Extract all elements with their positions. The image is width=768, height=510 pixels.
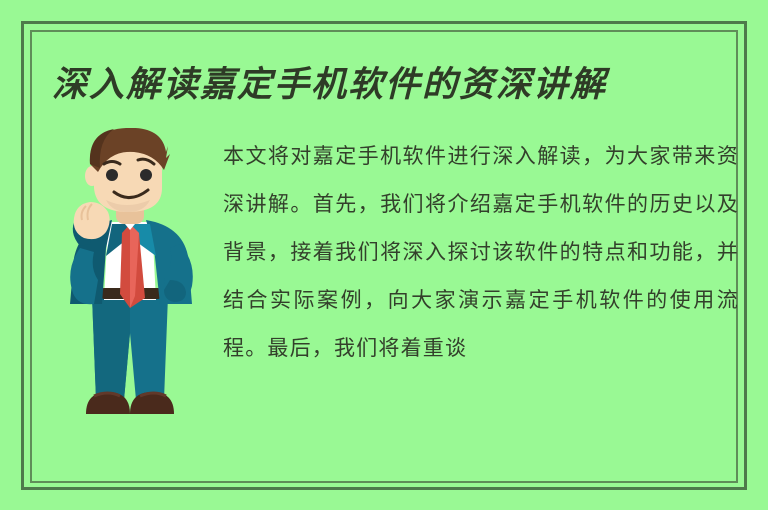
thinking-businessman-illustration [50, 128, 210, 418]
trousers-group [92, 296, 168, 400]
poster-canvas: 深入解读嘉定手机软件的资深讲解 [0, 0, 768, 510]
hand-at-chin [74, 202, 110, 239]
shoes-group [86, 392, 174, 414]
page-title: 深入解读嘉定手机软件的资深讲解 [52, 62, 712, 108]
head-group [85, 128, 170, 212]
businessman-svg [50, 128, 210, 418]
article-body-text: 本文将对嘉定手机软件进行深入解读，为大家带来资深讲解。首先，我们将介绍嘉定手机软… [223, 132, 739, 372]
